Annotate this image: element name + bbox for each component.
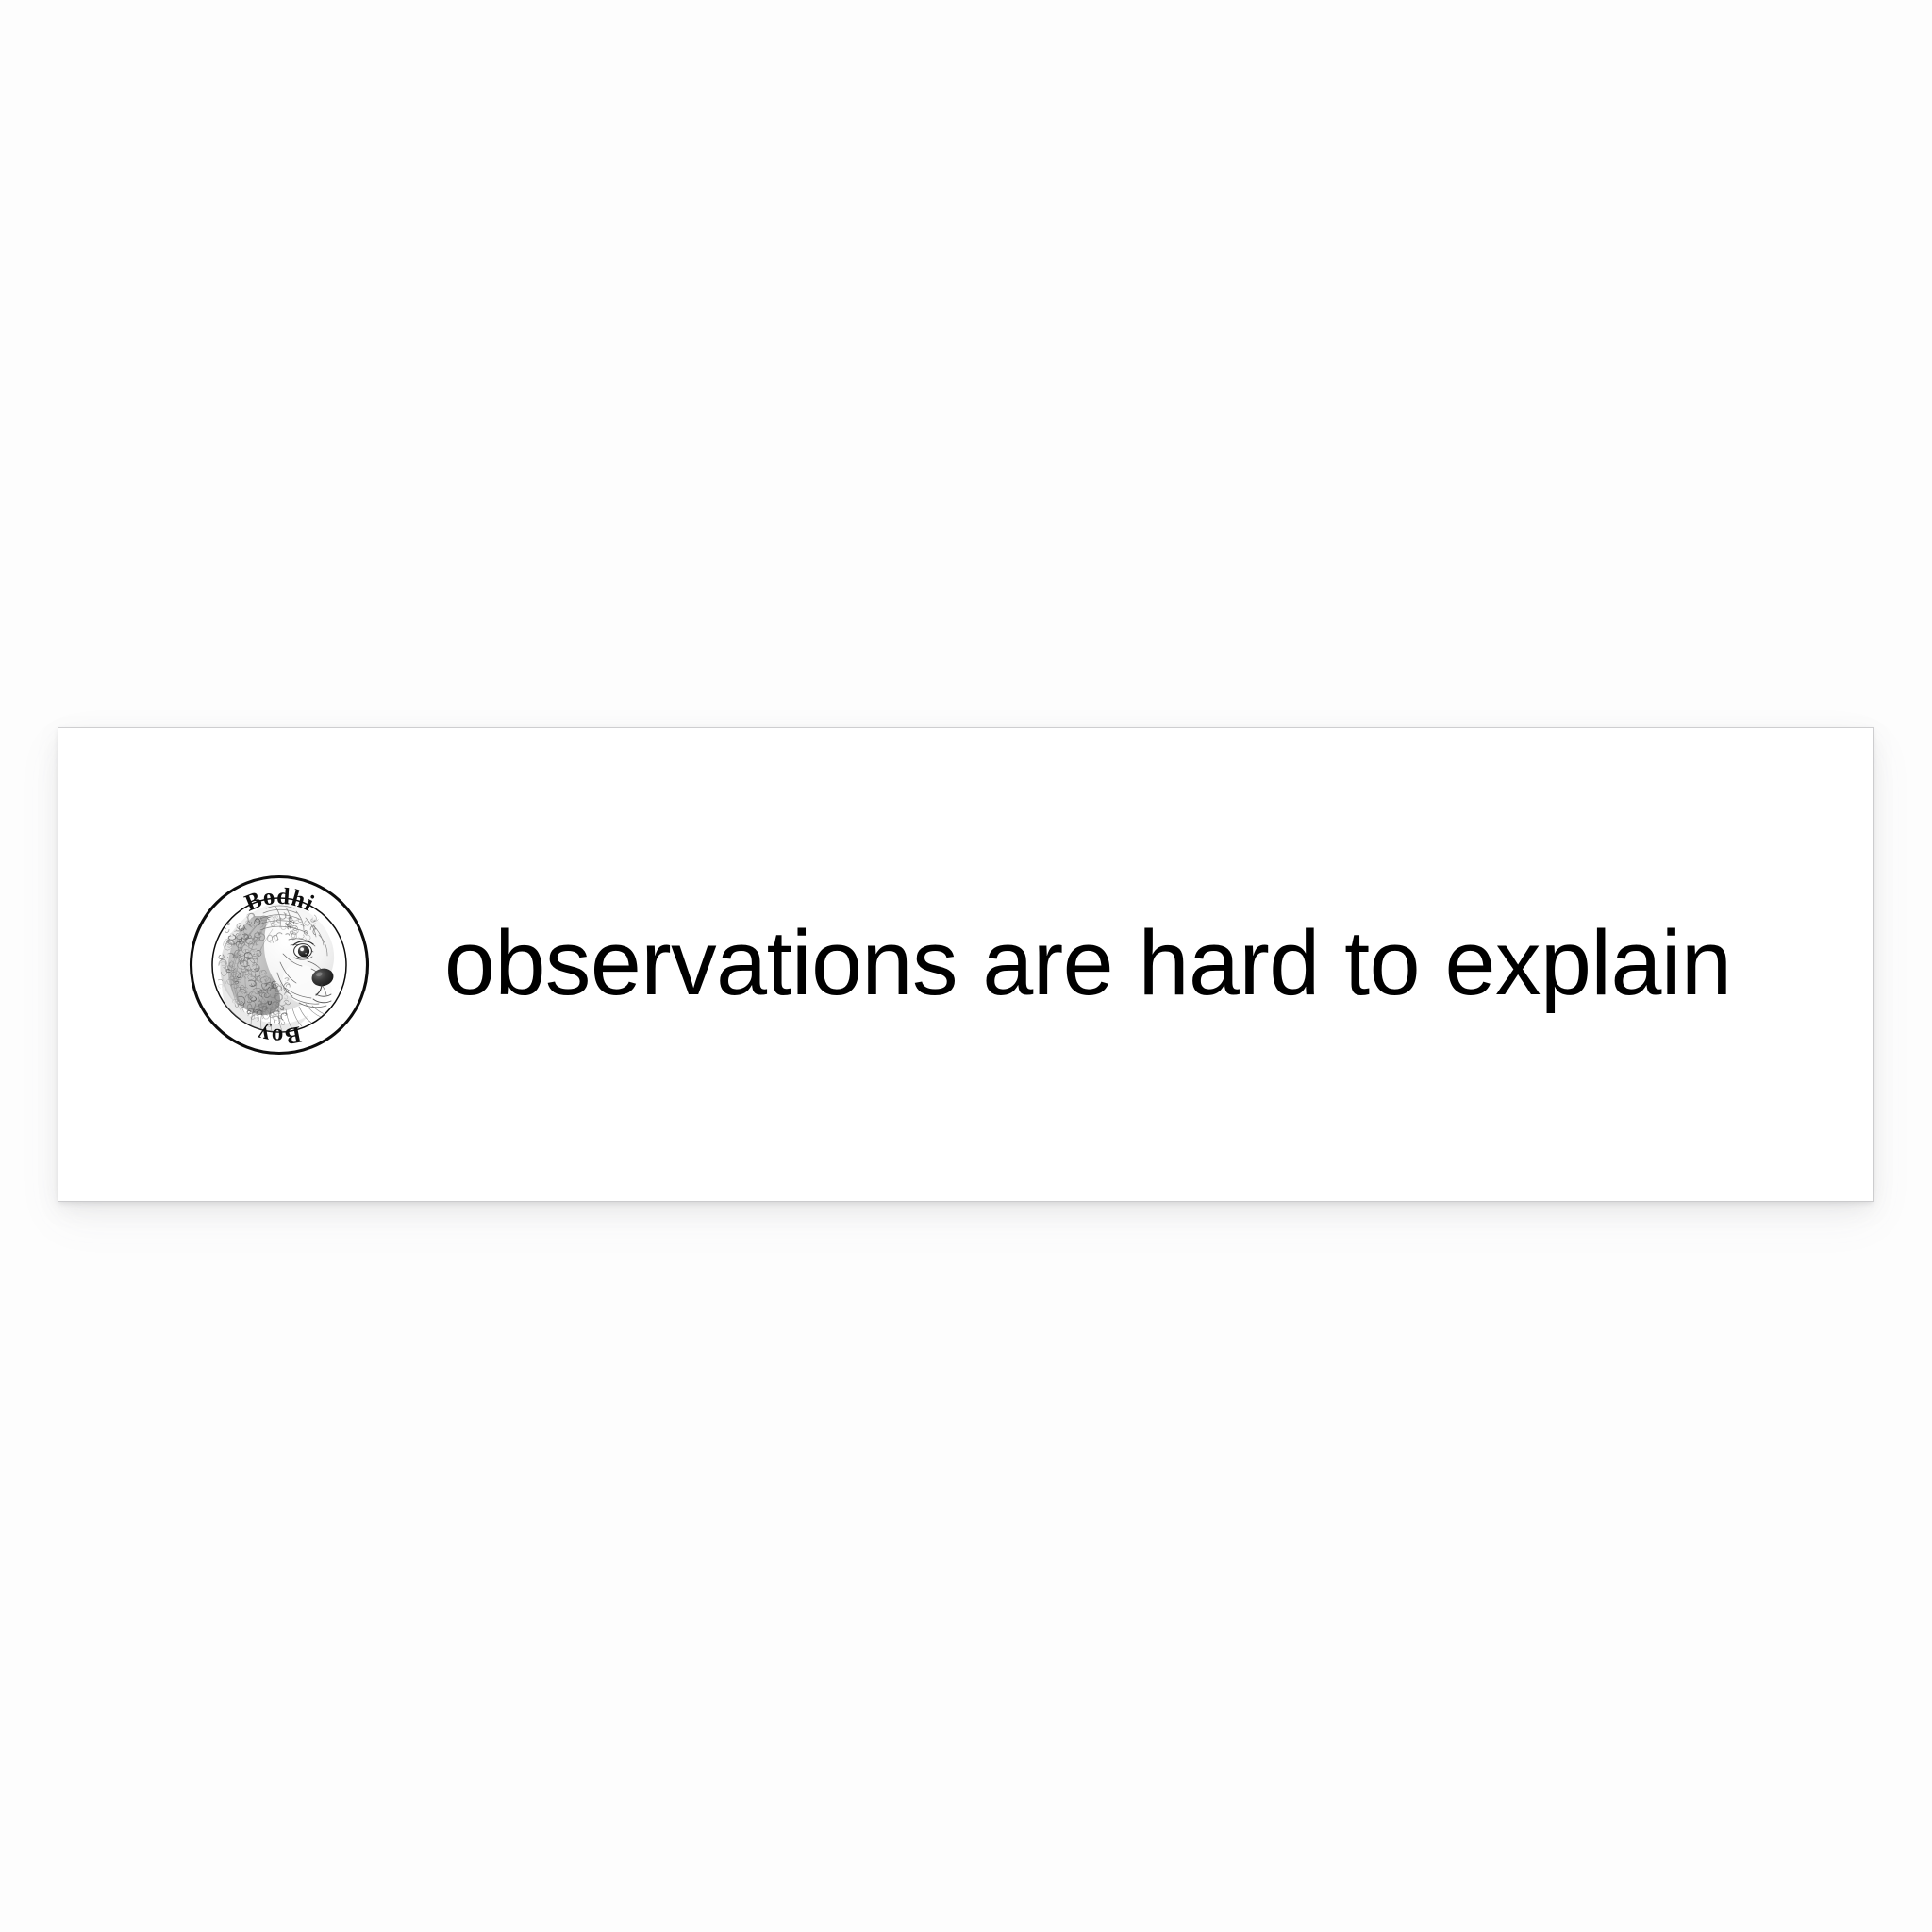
logo-svg: Bodhi Boy: [185, 871, 374, 1059]
sticker-card: Bodhi Boy observations are hard to expla…: [58, 728, 1873, 1201]
slogan-text: observations are hard to explain: [444, 917, 1731, 1008]
logo-bottom-text: Boy: [255, 1021, 304, 1049]
bodhi-boy-logo: Bodhi Boy: [185, 871, 374, 1059]
page-canvas: Bodhi Boy observations are hard to expla…: [0, 0, 1932, 1932]
